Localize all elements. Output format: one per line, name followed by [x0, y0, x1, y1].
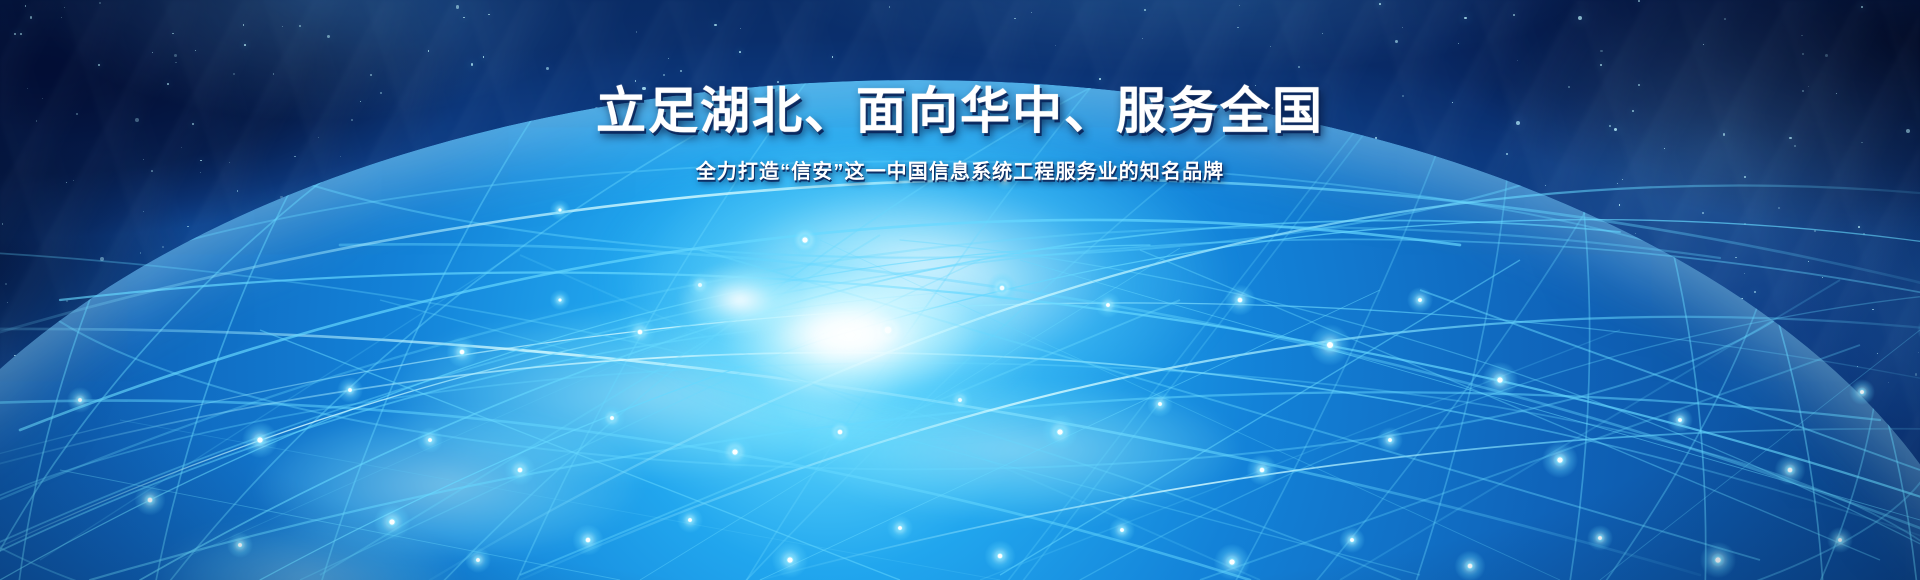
banner-headline: 立足湖北、面向华中、服务全国 [0, 82, 1920, 141]
banner-copy: 立足湖北、面向华中、服务全国 全力打造“信安”这一中国信息系统工程服务业的知名品… [0, 82, 1920, 184]
hero-banner: 立足湖北、面向华中、服务全国 全力打造“信安”这一中国信息系统工程服务业的知名品… [0, 0, 1920, 580]
banner-subline: 全力打造“信安”这一中国信息系统工程服务业的知名品牌 [0, 155, 1920, 184]
